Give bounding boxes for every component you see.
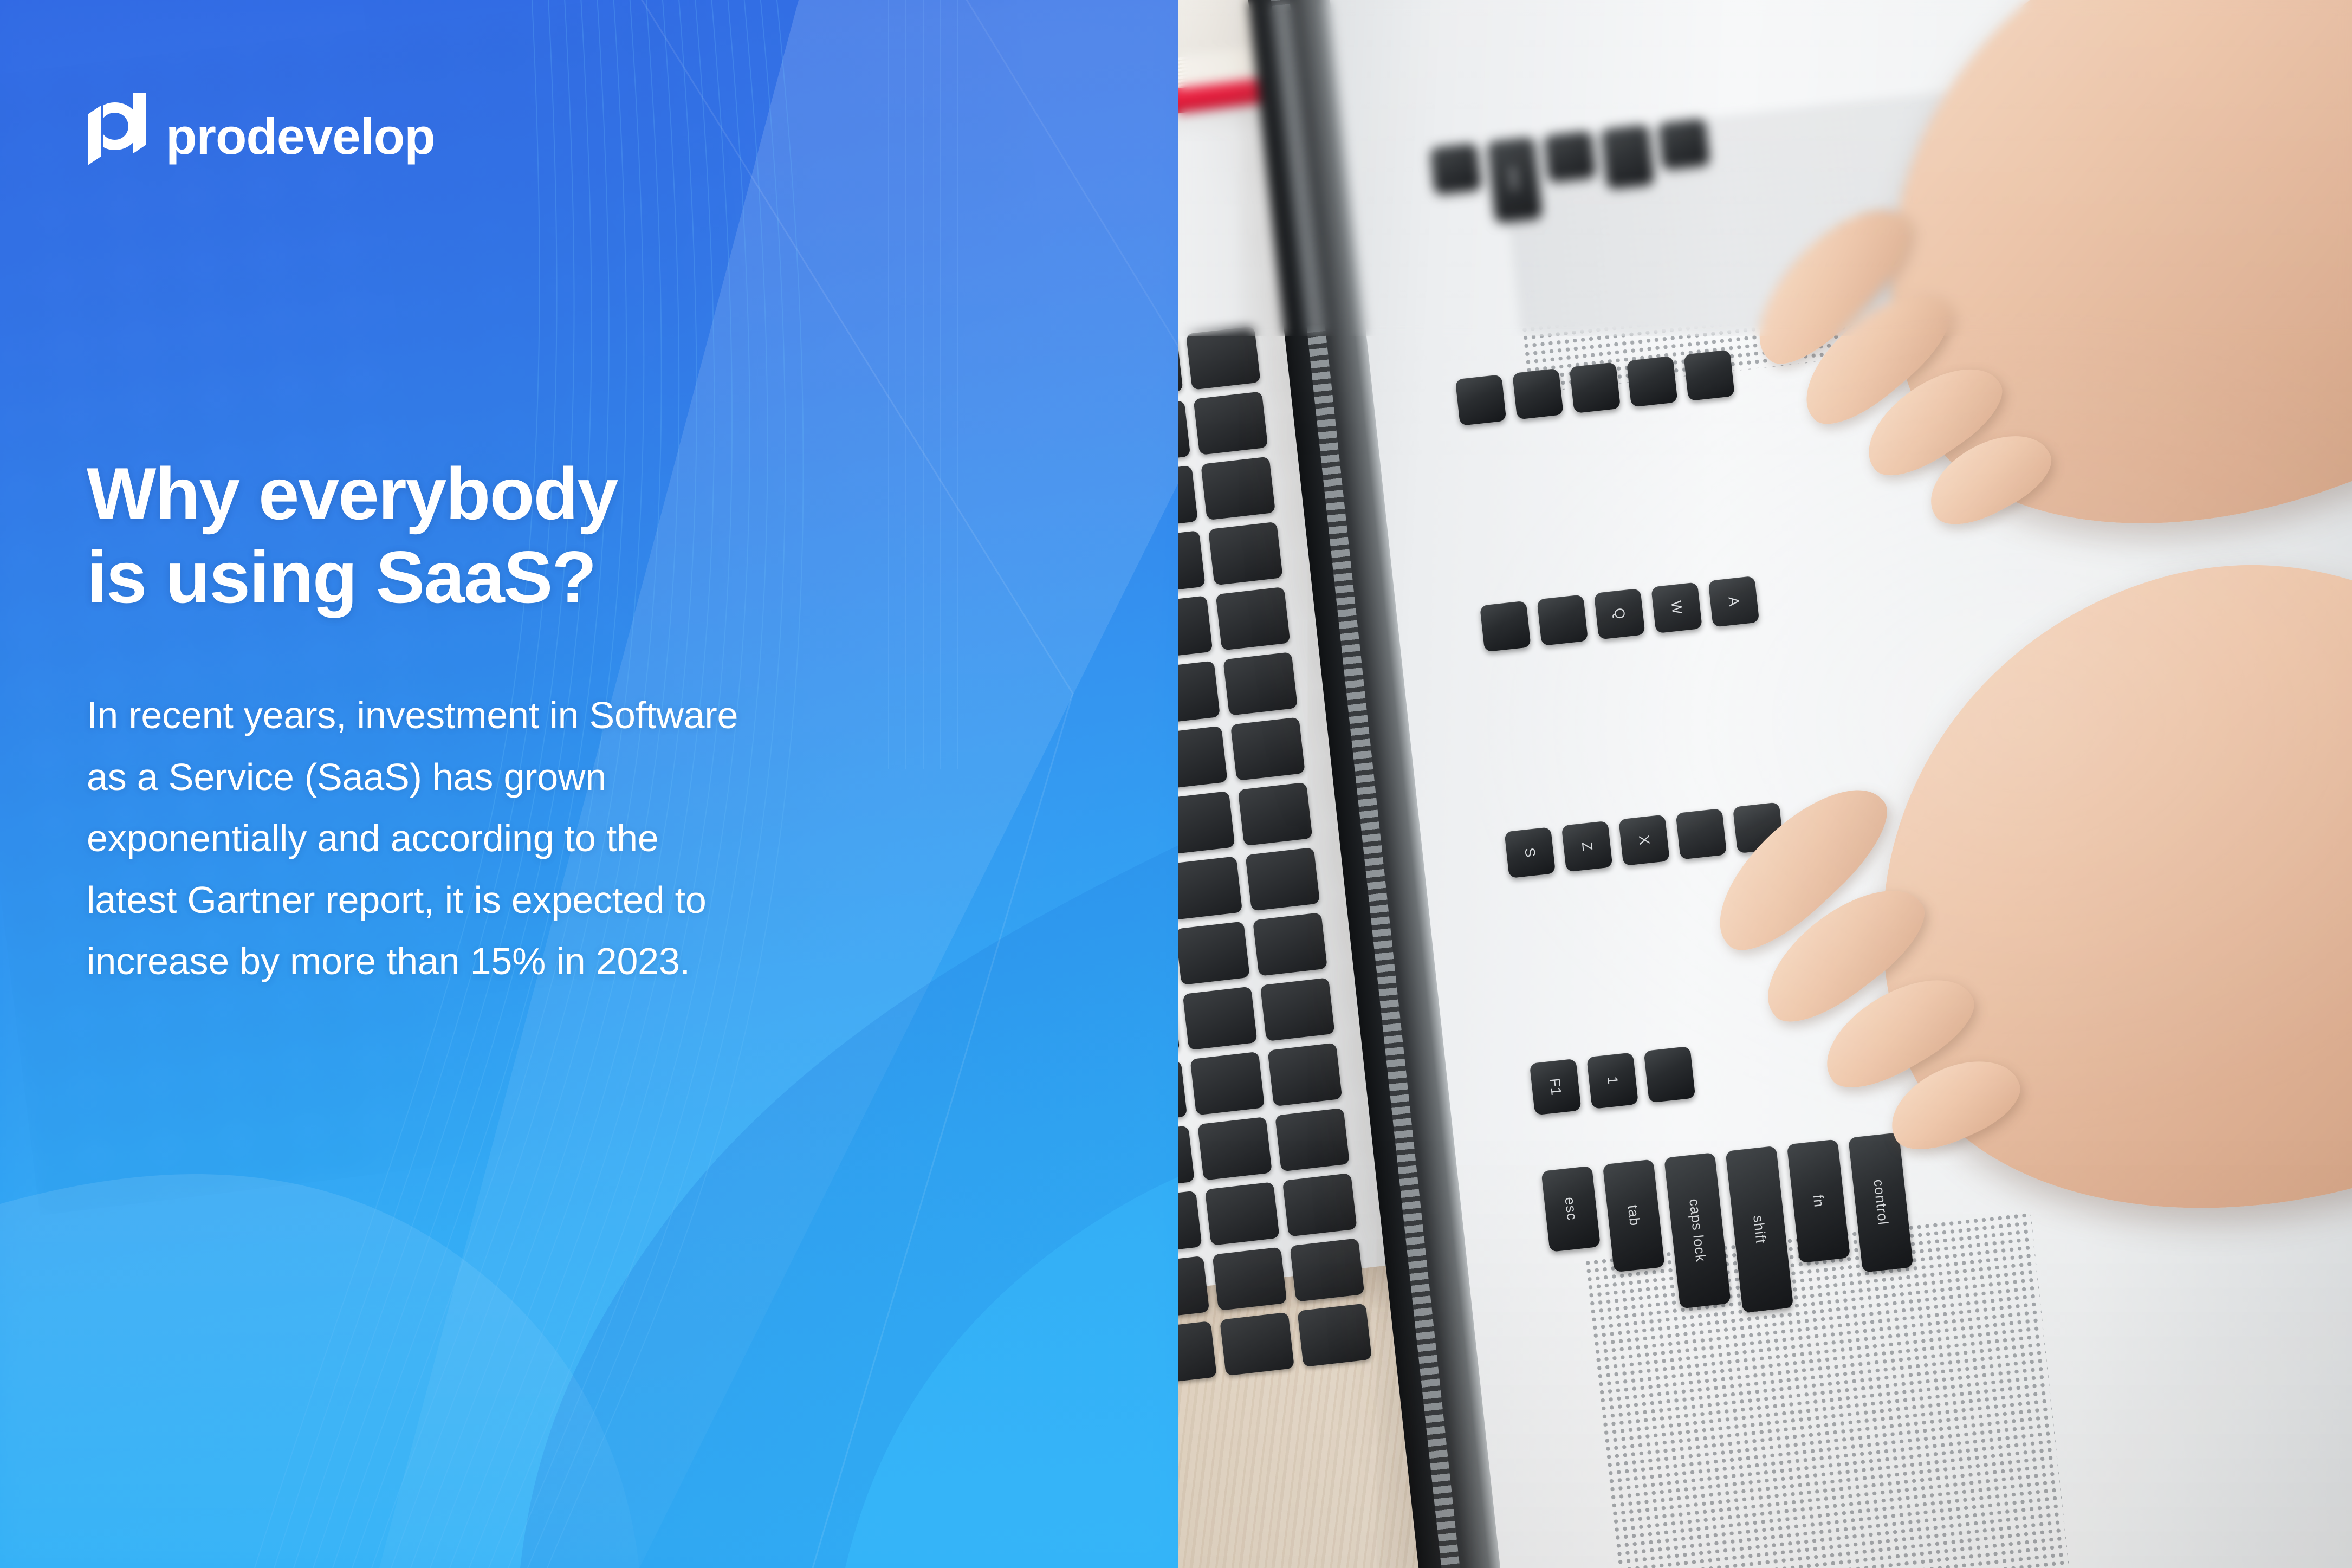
key-w[interactable]: W [1651,582,1702,633]
key-f10[interactable] [1658,118,1710,170]
key-z[interactable]: Z [1561,821,1613,872]
saas-promo-banner: prodevelop Why everybody is using SaaS? … [0,0,2352,1568]
key-a[interactable]: A [1708,576,1760,627]
key-shift[interactable]: shift [1725,1146,1793,1313]
body-line-4: latest Gartner report, it is expected to [87,870,1040,931]
key-f4[interactable] [1480,601,1531,652]
key-tab[interactable]: tab [1603,1159,1665,1272]
key-s[interactable]: S [1504,827,1556,878]
key-f8[interactable] [1512,368,1564,420]
key-x[interactable]: X [1618,814,1670,866]
key-f6[interactable] [1627,356,1678,407]
left-blue-panel: prodevelop Why everybody is using SaaS? … [0,0,1178,1568]
key-f7[interactable] [1569,362,1621,413]
keyboard-row-top-letters: Q W A [1480,576,1759,652]
brand-logo[interactable]: prodevelop [87,100,1178,165]
body-line-5: increase by more than 15% in 2023. [87,931,1040,992]
body-line-1: In recent years, investment in Software [87,685,1040,746]
primary-laptop: esc Q W A S Z X [1243,0,2352,1568]
key-tilde[interactable] [1644,1046,1696,1103]
key-caps-lock[interactable]: caps lock [1664,1152,1731,1309]
body-line-2: as a Service (SaaS) has grown [87,747,1040,808]
body-line-3: exponentially and according to the [87,808,1040,869]
key-power[interactable] [1430,143,1481,195]
key-2[interactable]: 1 [1586,1052,1638,1109]
key-control[interactable]: control [1848,1132,1913,1273]
key-escape[interactable]: esc [1541,1166,1601,1252]
page-title: Why everybody is using SaaS? [87,452,1008,619]
brand-wordmark: prodevelop [166,111,435,162]
key-f2[interactable]: F1 [1530,1059,1582,1116]
headline-line-1: Why everybody [87,452,1008,536]
headline-line-2: is using SaaS? [87,536,1008,619]
key-delete[interactable]: esc [1487,137,1543,222]
key-f11[interactable] [1601,124,1654,189]
key-f5[interactable] [1683,349,1735,401]
key-f3[interactable] [1537,594,1588,646]
key-f12[interactable] [1544,131,1596,182]
key-c[interactable] [1676,808,1727,860]
left-panel-content: prodevelop Why everybody is using SaaS? … [0,0,1178,1568]
keyboard-row-f2-f1: F1 1 [1530,1046,1696,1116]
key-fn[interactable]: fn [1787,1139,1850,1263]
right-photo-panel: esc Q W A S Z X [1178,0,2352,1568]
key-q[interactable]: Q [1594,588,1645,640]
prodevelop-p-mark-icon [87,93,147,165]
key-f9[interactable] [1455,374,1507,426]
body-paragraph: In recent years, investment in Software … [87,685,1040,992]
